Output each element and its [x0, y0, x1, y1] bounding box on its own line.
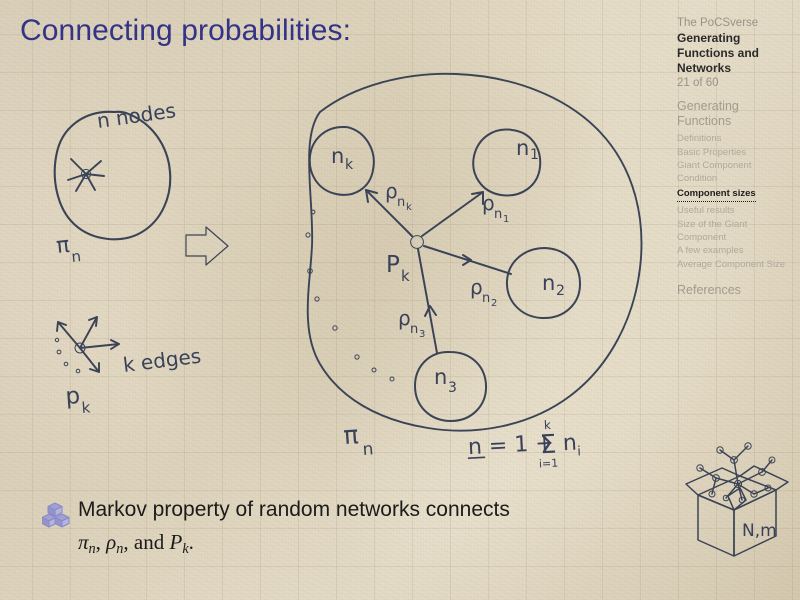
- math-period: .: [189, 530, 194, 554]
- edge-label-rho-n-3-sub: n: [410, 322, 418, 337]
- edges-sketch-label: k edges: [122, 344, 203, 377]
- main-circle-diagram: P k n k ρ n k n 1 ρ n 1 n 2: [306, 74, 642, 474]
- edges-sketch-caption-p: p: [65, 383, 81, 410]
- edge-label-rho-n-1-sub2: 1: [503, 214, 509, 225]
- main-outer-label-pi-sub: n: [362, 439, 374, 460]
- bullet-math-line: πn, ρn, and Pk.: [78, 528, 668, 559]
- edge-label-rho-n-3-sub2: 3: [419, 329, 425, 340]
- math-pi-sub: n: [89, 541, 96, 557]
- node-n-k-sub: k: [345, 157, 354, 173]
- main-outer-label-pi: π: [342, 420, 359, 450]
- edge-to-n-1: [422, 192, 483, 236]
- bullet-line-1: Markov property of random networks conne…: [78, 498, 510, 521]
- main-equation: n = 1 + Σ k i=1 n i: [467, 416, 582, 474]
- left-sketch-caption-pi: π: [55, 233, 71, 259]
- node-n-3-label: n: [434, 365, 447, 389]
- network-in-box-logo: N,m: [676, 438, 796, 558]
- edges-sketch-p-k: k edges p k: [55, 317, 202, 417]
- edge-label-rho-n-k: ρ: [385, 179, 398, 203]
- hub-label-P-sub: k: [401, 267, 410, 285]
- node-n-k: n k ρ n k: [310, 127, 412, 236]
- left-sketch-caption-n-nodes: n nodes: [95, 98, 177, 133]
- hub-node: [411, 236, 424, 249]
- node-n-2-label: n: [542, 271, 555, 295]
- edge-label-rho-n-k-sub2: k: [406, 202, 412, 213]
- equation-term-sub: i: [577, 444, 581, 459]
- edges-sketch-caption-p-sub: k: [81, 398, 91, 417]
- math-P: P: [169, 530, 182, 554]
- main-outer-circle: [308, 74, 642, 431]
- node-n-1-sub: 1: [530, 147, 539, 163]
- node-n-3-sub: 3: [448, 380, 457, 396]
- node-n-1-label: n: [516, 136, 529, 160]
- left-sketch-caption-pi-sub: n: [71, 247, 82, 266]
- edge-label-rho-n-1: ρ: [482, 191, 495, 215]
- edge-label-rho-n-2-sub2: 2: [491, 298, 497, 309]
- node-n-1: n 1 ρ n 1: [422, 130, 540, 236]
- node-n-2-sub: 2: [556, 283, 565, 299]
- equation-term: n: [562, 431, 577, 457]
- edge-label-rho-n-3: ρ: [398, 306, 411, 330]
- node-n-k-label: n: [331, 144, 344, 168]
- math-rho: ρ: [106, 530, 116, 554]
- edge-label-rho-n-k-sub: n: [397, 195, 405, 210]
- edge-label-rho-n-2-sub: n: [482, 291, 490, 306]
- equation-sum-upper: k: [544, 418, 552, 432]
- block-arrow-right: [186, 227, 228, 265]
- math-pi: π: [78, 530, 89, 554]
- logo-label: N,m: [742, 521, 777, 541]
- bullet-text: Markov property of random networks conne…: [78, 496, 668, 560]
- math-conjunction: , and: [123, 530, 169, 554]
- cubes-icon: [42, 502, 70, 528]
- left-sketch-pi-n: n nodes π n: [55, 98, 178, 266]
- equation-sum-lower: i=1: [539, 457, 559, 471]
- hub-label-P: P: [386, 252, 400, 278]
- edge-label-rho-n-2: ρ: [470, 275, 483, 299]
- node-n-2: n 2 ρ n 2: [424, 246, 580, 318]
- edge-label-rho-n-1-sub: n: [494, 207, 502, 222]
- edge-to-n-2: [424, 246, 511, 274]
